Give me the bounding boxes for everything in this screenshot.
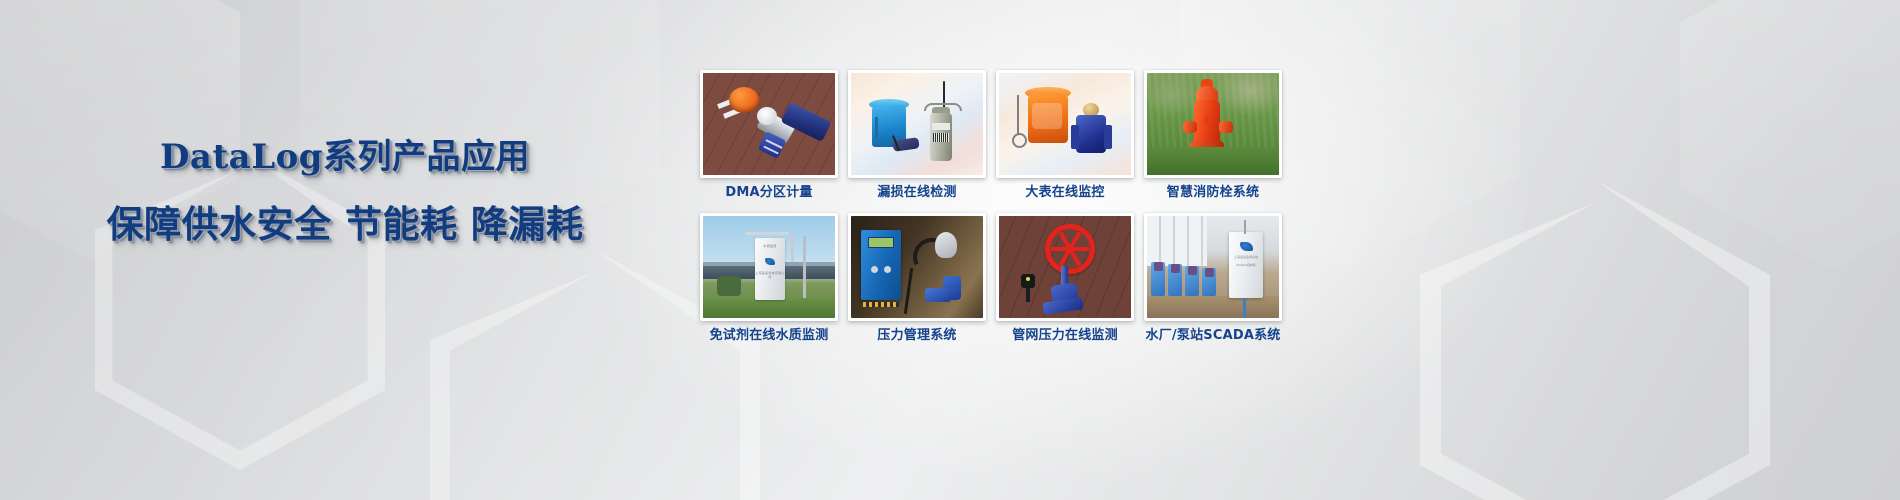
- hexagon-watermark: [1420, 180, 1770, 500]
- card-thumbnail[interactable]: 水质监测 上海某某科技有限公司: [700, 213, 838, 321]
- card-thumbnail[interactable]: [848, 213, 986, 321]
- leak-logger-photo: [851, 73, 983, 175]
- card-thumbnail[interactable]: 上海某某监测系统 SCADA控制柜: [1144, 213, 1282, 321]
- application-card[interactable]: 水质监测 上海某某科技有限公司 免试剂在线水质监测: [700, 213, 838, 344]
- water-quality-cabinet-photo: 水质监测 上海某某科技有限公司: [703, 216, 835, 318]
- card-caption: 管网压力在线监测: [1012, 328, 1118, 344]
- card-caption: 大表在线监控: [1025, 185, 1104, 201]
- card-caption: 压力管理系统: [877, 328, 956, 344]
- scada-label: 上海某某监测系统: [1229, 255, 1263, 259]
- application-card[interactable]: 智慧消防栓系统: [1144, 70, 1282, 201]
- promo-banner: DataLog系列产品应用 保障供水安全 节能耗 降漏耗: [0, 0, 1900, 500]
- application-card-grid: DMA分区计量 漏损在线检测: [700, 70, 1282, 344]
- card-caption: 漏损在线检测: [877, 185, 956, 201]
- pressure-controller-photo: [851, 216, 983, 318]
- application-card[interactable]: 上海某某监测系统 SCADA控制柜 水厂/泵站SCADA系统: [1144, 213, 1282, 344]
- scada-sub: SCADA控制柜: [1229, 263, 1263, 267]
- card-thumbnail[interactable]: [996, 213, 1134, 321]
- card-caption: 水厂/泵站SCADA系统: [1146, 328, 1281, 344]
- large-meter-photo: [999, 73, 1131, 175]
- card-thumbnail[interactable]: [1144, 70, 1282, 178]
- card-caption: 智慧消防栓系统: [1167, 185, 1259, 201]
- cabinet-label: 水质监测: [755, 244, 785, 248]
- smart-hydrant-photo: [1147, 73, 1279, 175]
- application-card[interactable]: DMA分区计量: [700, 70, 838, 201]
- card-thumbnail[interactable]: [700, 70, 838, 178]
- application-card[interactable]: 压力管理系统: [848, 213, 986, 344]
- pipeline-pressure-photo: [999, 216, 1131, 318]
- card-thumbnail[interactable]: [848, 70, 986, 178]
- headline-block: DataLog系列产品应用 保障供水安全 节能耗 降漏耗: [0, 135, 690, 247]
- card-caption: 免试剂在线水质监测: [710, 328, 829, 344]
- cabinet-company: 上海某某科技有限公司: [755, 271, 785, 279]
- card-caption: DMA分区计量: [725, 185, 812, 201]
- scada-pump-station-photo: 上海某某监测系统 SCADA控制柜: [1147, 216, 1279, 318]
- application-card[interactable]: 漏损在线检测: [848, 70, 986, 201]
- application-card[interactable]: 管网压力在线监测: [996, 213, 1134, 344]
- card-thumbnail[interactable]: [996, 70, 1134, 178]
- headline-line-2: 保障供水安全 节能耗 降漏耗: [0, 201, 690, 247]
- application-card[interactable]: 大表在线监控: [996, 70, 1134, 201]
- dma-metering-photo: [703, 73, 835, 175]
- headline-line-1: DataLog系列产品应用: [0, 135, 690, 179]
- hexagon-watermark: [1680, 0, 1900, 270]
